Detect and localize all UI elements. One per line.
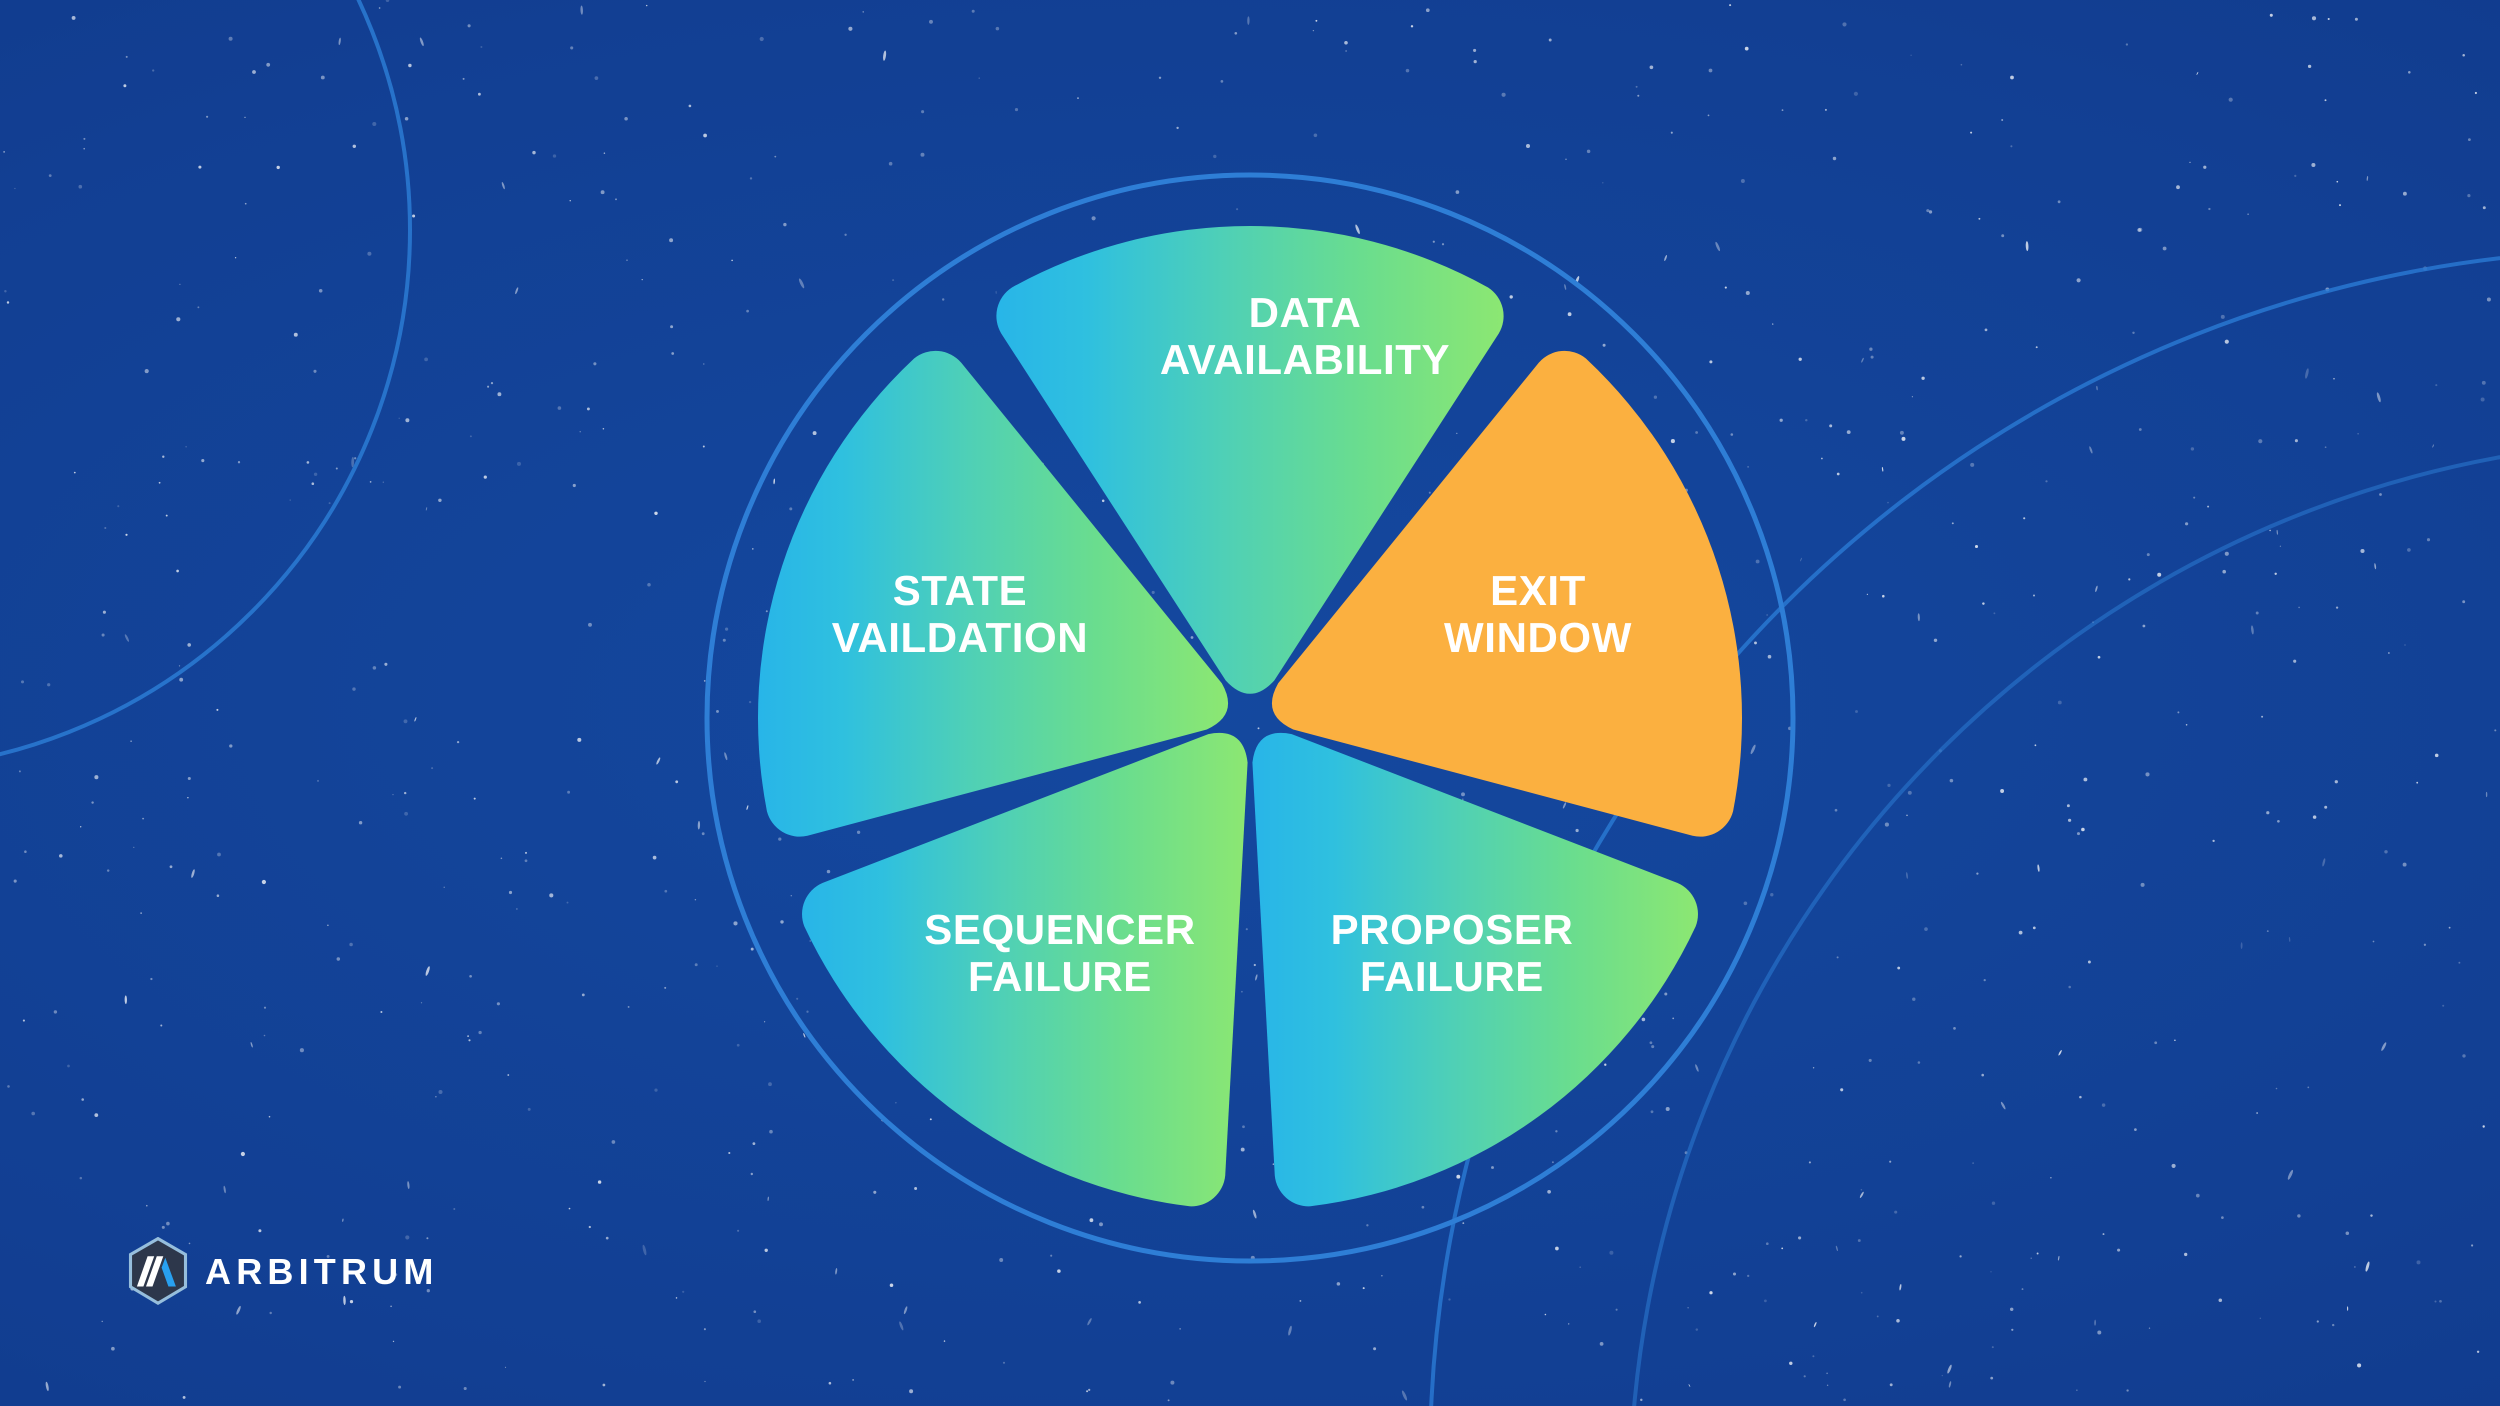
arbitrum-brand-lockup: ARBITRUM bbox=[127, 1237, 439, 1305]
arbitrum-hexagon-logo-icon bbox=[127, 1237, 189, 1305]
arbitrum-wordmark: ARBITRUM bbox=[205, 1254, 439, 1290]
segmented-pie-chart bbox=[0, 0, 2500, 1406]
infographic-canvas: DATA AVAILABILITYEXIT WINDOWPROPOSER FAI… bbox=[0, 0, 2500, 1406]
